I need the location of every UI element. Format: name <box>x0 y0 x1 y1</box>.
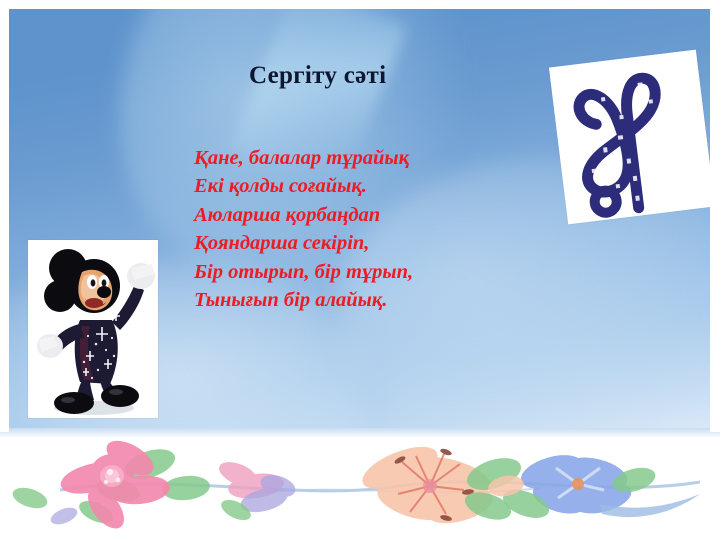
frame-edge-right <box>710 0 720 432</box>
poem-line-2: Екі қолды соғайық. <box>194 172 413 200</box>
frame-edge-left <box>0 0 9 432</box>
flower-border-art <box>0 428 720 540</box>
mickey-mouse-icon <box>28 240 158 418</box>
band-top-fade <box>0 428 720 438</box>
treble-clef-icon <box>549 50 715 225</box>
page-title: Сергіту сәті <box>249 62 386 90</box>
poem-line-1: Қане, балалар тұрайық <box>194 144 413 172</box>
poem-line-3: Аюларша қорбаңдап <box>194 201 413 229</box>
slide-canvas: Сергіту сәті Қане, балалар тұрайық Екі қ… <box>0 0 720 540</box>
poem-line-5: Бір отырып, бір тұрып, <box>194 258 413 286</box>
poem-line-6: Тынығып бір алайық. <box>194 286 413 314</box>
treble-clef-photo <box>549 50 715 225</box>
poem-line-4: Қояндарша секіріп, <box>194 229 413 257</box>
flower-border <box>0 428 720 540</box>
frame-edge-top <box>0 0 720 9</box>
mickey-mouse-figurine-photo <box>28 240 158 418</box>
poem-text-block: Қане, балалар тұрайық Екі қолды соғайық.… <box>194 144 413 314</box>
